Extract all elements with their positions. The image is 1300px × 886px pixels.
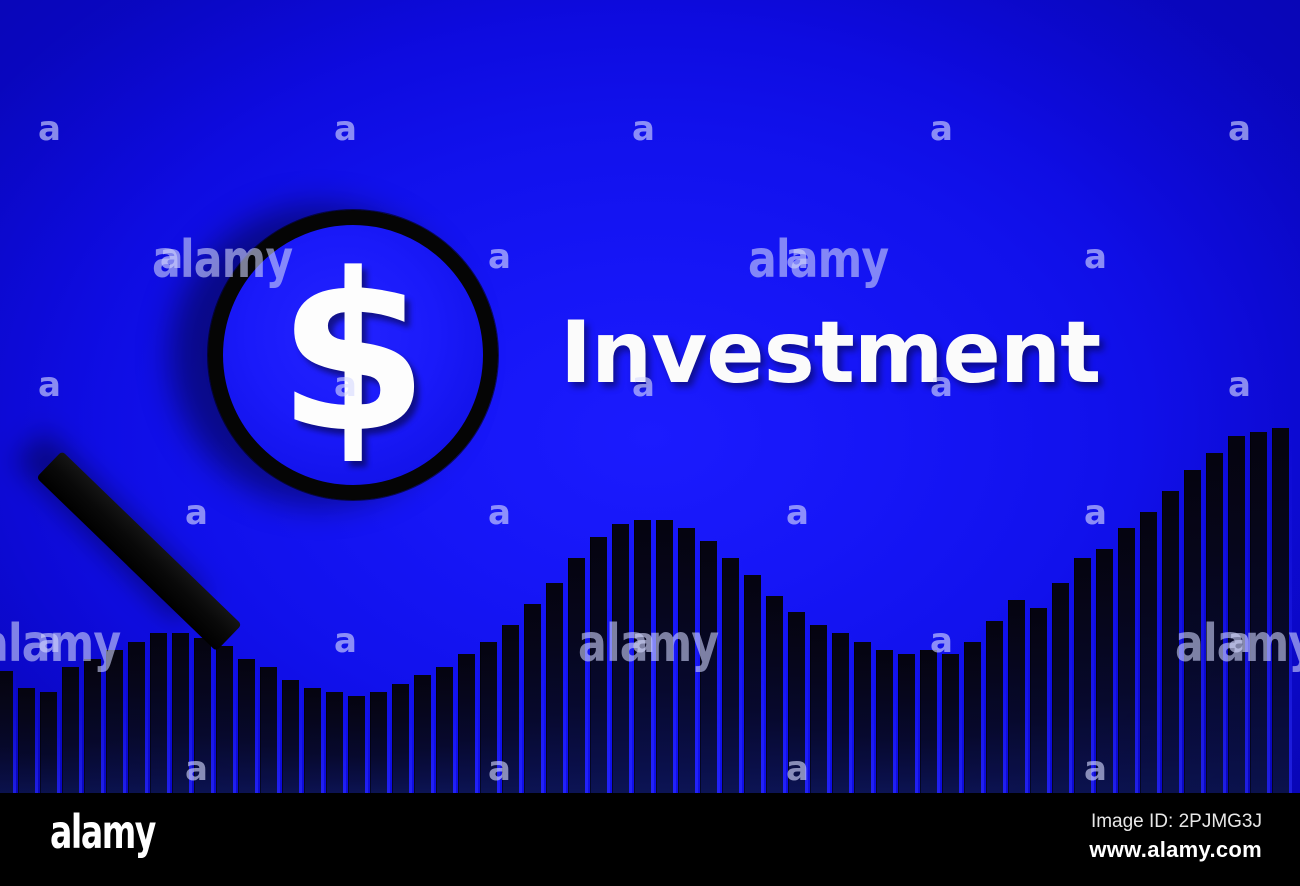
image-id-label: Image ID: 2PJMG3J	[1091, 812, 1262, 831]
alamy-footer-bar: alamy Image ID: 2PJMG3J www.alamy.com	[0, 793, 1300, 886]
alamy-logo: alamy	[50, 809, 155, 855]
stock-photo: $ Investment aaaaaaaaaaaaaaaaaaaaaaaaaaa…	[0, 0, 1300, 793]
headline-text: Investment	[560, 310, 1100, 396]
image-canvas: $ Investment aaaaaaaaaaaaaaaaaaaaaaaaaaa…	[0, 0, 1300, 886]
alamy-url-label: www.alamy.com	[1089, 839, 1262, 861]
